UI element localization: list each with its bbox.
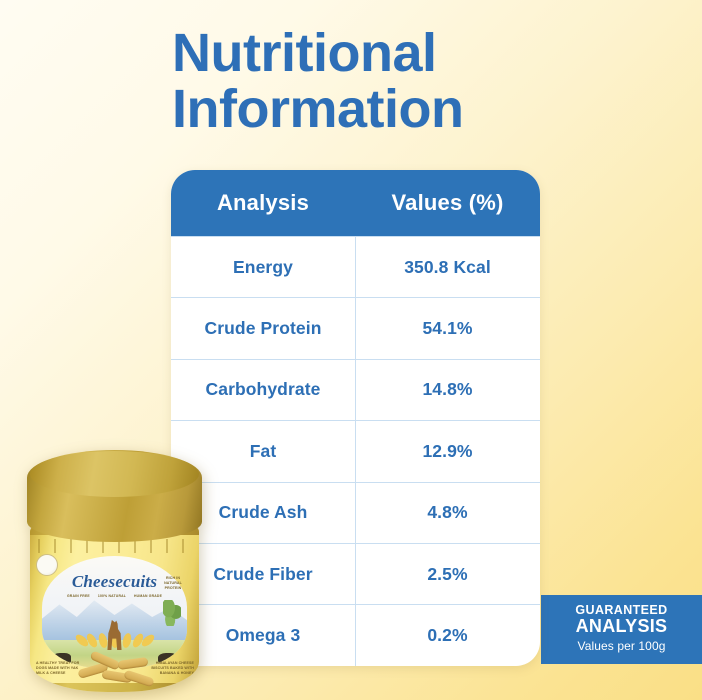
product-jar-image: Cheesecuits GRAIN FREE 100% NATURAL HUMA… bbox=[27, 450, 202, 695]
cell-value: 350.8 Kcal bbox=[355, 257, 540, 278]
table-header-row: Analysis Values (%) bbox=[171, 170, 540, 236]
jar-side-text-protein: RICH IN NATURAL PROTEIN bbox=[161, 576, 185, 591]
product-claim: 100% NATURAL bbox=[98, 594, 126, 598]
column-header-analysis: Analysis bbox=[171, 190, 355, 216]
herb-sprig-icon bbox=[163, 600, 181, 626]
nutrition-table: Analysis Values (%) Energy 350.8 Kcal Cr… bbox=[171, 170, 540, 666]
table-body: Energy 350.8 Kcal Crude Protein 54.1% Ca… bbox=[171, 236, 540, 666]
cell-analysis: Crude Protein bbox=[171, 318, 355, 339]
badge-analysis-label: ANALYSIS bbox=[541, 617, 702, 637]
jar-bottom-rim bbox=[30, 683, 199, 692]
badge-values-per-100g-label: Values per 100g bbox=[541, 637, 702, 655]
cell-value: 54.1% bbox=[355, 318, 540, 339]
badge-guaranteed-label: GUARANTEED bbox=[541, 603, 702, 617]
cell-value: 0.2% bbox=[355, 625, 540, 646]
jar-lid bbox=[27, 450, 202, 542]
jar-lid-top-surface bbox=[30, 451, 199, 497]
jar-side-text-right: HIMALAYAN CHEESE BISCUITS BAKED WITH BAN… bbox=[140, 661, 194, 676]
cell-value: 12.9% bbox=[355, 441, 540, 462]
page-title-line-2: Information bbox=[172, 82, 692, 138]
guaranteed-analysis-badge: GUARANTEED ANALYSIS Values per 100g bbox=[541, 595, 702, 664]
jar-side-text-left: A HEALTHY TREAT FOR DOGS MADE WITH YAK M… bbox=[36, 661, 82, 676]
cell-analysis: Energy bbox=[171, 257, 355, 278]
product-claims: GRAIN FREE 100% NATURAL HUMAN GRADE bbox=[42, 594, 187, 598]
column-header-values: Values (%) bbox=[355, 190, 540, 216]
cell-value: 14.8% bbox=[355, 379, 540, 400]
cell-analysis: Carbohydrate bbox=[171, 379, 355, 400]
page-title: Nutritional Information bbox=[172, 26, 692, 137]
cell-value: 2.5% bbox=[355, 564, 540, 585]
column-divider bbox=[355, 236, 356, 666]
page-title-line-1: Nutritional bbox=[172, 26, 692, 82]
cell-value: 4.8% bbox=[355, 502, 540, 523]
product-claim: HUMAN GRADE bbox=[134, 594, 162, 598]
product-claim: GRAIN FREE bbox=[67, 594, 90, 598]
jar-body: Cheesecuits GRAIN FREE 100% NATURAL HUMA… bbox=[30, 524, 199, 692]
